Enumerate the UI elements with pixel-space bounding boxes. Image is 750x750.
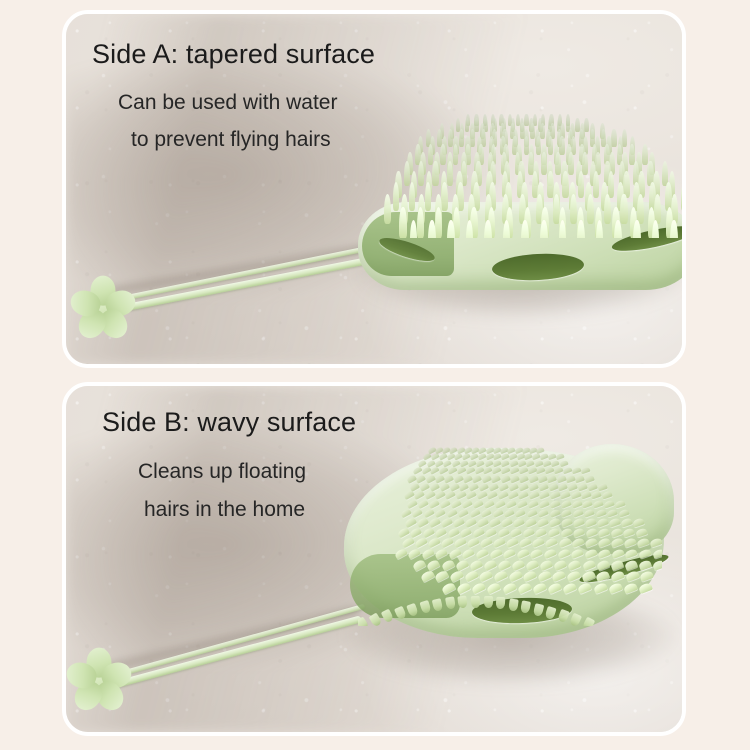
bristle <box>568 152 574 175</box>
wave-scale <box>638 559 652 570</box>
wave-scale <box>547 527 560 538</box>
wave-scale <box>595 570 610 582</box>
wave-scale <box>427 537 441 549</box>
panel-b-subtitle-line2: hairs in the home <box>144 498 305 522</box>
wave-scale <box>478 482 489 491</box>
wave-scale <box>580 467 590 475</box>
bristle <box>441 182 448 211</box>
wave-scale <box>509 467 519 475</box>
wave-scale <box>414 537 428 549</box>
wave-scale <box>422 527 435 538</box>
wave-scale <box>535 527 548 538</box>
wave-scale <box>539 559 553 571</box>
wave-scale <box>549 490 560 499</box>
wave-scale <box>571 467 581 475</box>
wave-scale <box>558 537 571 548</box>
wave-scale <box>549 508 561 518</box>
wave-scale <box>498 482 509 491</box>
wave-scale <box>578 482 589 491</box>
wave-scale <box>518 490 529 499</box>
wave-scale <box>450 499 462 509</box>
wave-scale <box>429 482 440 491</box>
wave-scale <box>547 474 557 482</box>
wave-scale <box>426 558 440 570</box>
wave-scale <box>505 537 518 548</box>
wave-scale <box>505 499 517 509</box>
wave-scale <box>459 527 472 538</box>
panel-b-subtitle-line1: Cleans up floating <box>138 460 306 484</box>
edge-tooth <box>406 603 419 617</box>
wave-scale <box>610 570 625 582</box>
wave-scale <box>447 466 457 475</box>
wave-scale <box>597 482 608 490</box>
wave-scale <box>527 499 539 509</box>
wave-scale <box>497 490 508 499</box>
wave-scale <box>522 527 535 538</box>
edge-tooth <box>508 598 518 611</box>
bristle <box>459 129 464 147</box>
wave-scale <box>475 548 489 560</box>
wave-scale <box>453 537 466 549</box>
bristle <box>432 161 438 186</box>
wave-scale <box>597 537 610 548</box>
wave-scale <box>561 508 573 518</box>
wave-scale <box>415 474 425 483</box>
wave-scale <box>400 507 412 518</box>
wave-scale <box>417 498 429 508</box>
wave-scale <box>575 474 585 482</box>
wave-scale <box>420 570 435 583</box>
wave-scale <box>632 517 644 527</box>
wave-scale <box>558 482 569 491</box>
wave-scale <box>531 537 544 548</box>
wave-scale <box>469 508 481 518</box>
wave-scale <box>528 482 539 491</box>
wave-scale <box>466 537 479 548</box>
edge-tooth <box>520 600 531 613</box>
bristle <box>404 161 410 186</box>
wave-scale <box>519 474 529 483</box>
wave-scale <box>618 508 630 517</box>
wave-scale <box>412 466 422 475</box>
wave-scale <box>445 490 456 500</box>
wave-scale <box>413 490 424 500</box>
wave-scale <box>522 570 537 582</box>
wave-scale <box>593 499 605 508</box>
wave-scale <box>471 582 486 595</box>
wave-scale <box>434 527 447 538</box>
wave-scale <box>608 582 623 594</box>
wave-scale <box>591 490 602 499</box>
wave-scale <box>570 548 584 559</box>
wave-scale <box>493 570 508 582</box>
bristle <box>448 129 453 147</box>
bristle <box>559 136 564 155</box>
wave-scale <box>440 558 454 570</box>
wave-scale <box>529 548 543 559</box>
wave-scale <box>444 474 454 483</box>
bristle <box>562 171 568 198</box>
wave-scale <box>525 559 539 571</box>
wave-scale <box>394 547 408 559</box>
wave-scale <box>635 527 648 537</box>
bristle <box>447 161 453 186</box>
wave-scale <box>425 474 435 483</box>
wave-scale <box>428 517 441 528</box>
edge-tooth <box>545 606 557 620</box>
wave-scale <box>638 582 653 594</box>
wave-scale <box>610 537 623 548</box>
bristle <box>622 129 627 147</box>
wave-scale <box>568 482 579 491</box>
panel-a-title: Side A: tapered surface <box>92 39 375 70</box>
wave-scale <box>476 490 487 500</box>
wave-scale <box>472 527 485 538</box>
wave-scale <box>494 499 506 509</box>
wave-scale <box>559 490 570 499</box>
product-infographic: Side A: tapered surface Can be used with… <box>0 0 750 750</box>
wave-scale <box>582 499 594 508</box>
wave-scale <box>421 547 435 559</box>
wave-scale <box>585 527 598 537</box>
wave-scale <box>584 474 594 482</box>
wave-scale <box>478 570 493 582</box>
wave-scale <box>539 490 550 499</box>
wave-scale <box>518 482 529 491</box>
wave-scale <box>461 499 473 509</box>
wave-scale <box>508 482 519 491</box>
wave-scale <box>446 508 458 518</box>
wave-scale <box>623 582 638 594</box>
wave-scale <box>596 517 608 527</box>
wave-scale <box>455 490 466 500</box>
wave-scale <box>604 499 616 508</box>
wave-scale <box>464 517 477 528</box>
bristle <box>620 194 627 224</box>
wave-scale <box>532 582 547 595</box>
wave-scale <box>610 527 623 537</box>
wave-scale <box>572 527 585 537</box>
bristle <box>548 136 553 155</box>
wave-scale <box>649 537 662 547</box>
wave-scale <box>439 482 450 491</box>
wave-scale <box>469 482 480 491</box>
wave-scale <box>465 467 475 475</box>
wave-scale <box>490 474 500 483</box>
wave-scale <box>577 582 592 594</box>
bristle <box>399 207 406 238</box>
wave-scale <box>545 537 558 548</box>
bristle <box>530 123 535 139</box>
wave-scale <box>515 508 527 518</box>
wave-scale <box>488 517 501 528</box>
wave-scale <box>440 537 453 549</box>
panel-a-subtitle-line1: Can be used with water <box>118 91 337 115</box>
wave-scale <box>560 527 573 538</box>
wave-scale <box>456 581 471 594</box>
wave-scale <box>509 527 522 538</box>
wave-scale <box>596 559 610 571</box>
wave-scale <box>459 482 470 491</box>
bristle <box>596 220 604 238</box>
wave-scale <box>584 537 597 548</box>
bristle <box>683 207 686 238</box>
flower-tag-a <box>76 282 130 336</box>
bristle <box>593 171 599 198</box>
wave-scale <box>551 570 566 582</box>
wave-scale <box>507 490 518 499</box>
wave-scale <box>502 548 516 560</box>
wave-scale <box>464 570 479 583</box>
wave-scale <box>625 570 640 582</box>
wave-scale <box>556 474 566 482</box>
wave-scale <box>489 548 503 560</box>
wave-scale <box>492 537 505 548</box>
wave-scale <box>497 527 510 538</box>
wave-scale <box>638 548 652 559</box>
edge-tooth <box>358 617 370 626</box>
edge-tooth <box>582 617 596 626</box>
wave-scale <box>428 499 440 509</box>
wave-scale <box>416 517 429 528</box>
wave-scale <box>456 467 466 476</box>
wave-scale <box>624 559 638 570</box>
wave-scale <box>597 527 610 537</box>
wave-scale <box>407 547 421 559</box>
wave-scale <box>559 460 568 468</box>
bristle <box>582 152 588 175</box>
bristle <box>555 152 561 175</box>
wave-scale <box>483 499 495 509</box>
edge-tooth <box>557 609 570 623</box>
wave-scale <box>455 558 469 570</box>
bristle <box>608 171 614 198</box>
bristle <box>681 182 686 211</box>
wave-scale <box>397 527 410 538</box>
wave-scale <box>562 467 572 475</box>
wave-scale <box>476 517 489 528</box>
wave-scale <box>582 559 596 571</box>
wave-scale <box>584 508 596 518</box>
wave-scale <box>503 508 515 518</box>
edge-tooth <box>569 613 582 626</box>
wave-scale <box>593 582 608 594</box>
panel-side-a: Side A: tapered surface Can be used with… <box>62 10 686 368</box>
wave-scale <box>500 474 510 483</box>
bristle <box>440 144 446 165</box>
wave-scale <box>406 498 418 508</box>
wave-scale <box>571 537 584 548</box>
wave-scale <box>538 499 550 509</box>
wave-scale <box>581 570 596 582</box>
wave-scale <box>406 474 416 483</box>
wave-scale <box>538 508 550 518</box>
bristle <box>570 194 577 224</box>
wave-scale <box>555 453 564 460</box>
edge-tooth <box>368 613 382 626</box>
wave-scale <box>434 570 449 583</box>
wave-scale <box>553 559 567 571</box>
wave-scale <box>492 508 504 518</box>
wave-scale <box>606 508 618 518</box>
wave-scale <box>526 508 538 518</box>
wave-scale <box>516 499 528 509</box>
wave-scale <box>608 517 620 527</box>
panel-side-b: Side B: wavy surface Cleans up floating … <box>62 382 686 736</box>
wave-scale <box>639 570 654 582</box>
edge-tooth <box>532 603 544 617</box>
wave-scale <box>571 499 583 508</box>
wave-scale <box>434 508 446 518</box>
edge-tooth <box>432 598 444 612</box>
bristle <box>474 118 478 132</box>
bristle <box>447 220 455 238</box>
wave-scale <box>543 548 557 559</box>
wave-scale <box>465 490 476 500</box>
wave-scale <box>488 482 499 491</box>
wave-scale <box>528 490 539 499</box>
wave-scale <box>636 537 649 548</box>
wave-scale <box>623 537 636 548</box>
wave-scale <box>518 537 531 548</box>
wave-scale <box>572 508 584 518</box>
wave-scale <box>423 508 435 519</box>
wave-scale <box>484 527 497 538</box>
wave-scale <box>580 490 591 499</box>
wave-scale <box>401 537 415 549</box>
wave-scale <box>452 517 465 528</box>
wave-scale <box>517 582 532 595</box>
wave-scale <box>560 499 572 508</box>
wave-scale <box>500 517 513 528</box>
wave-scale <box>620 517 632 527</box>
wave-scale <box>461 547 475 559</box>
bristle <box>540 123 545 139</box>
wave-scale <box>486 490 497 499</box>
wave-scale <box>652 559 662 570</box>
wave-scale <box>557 548 571 559</box>
wave-scale <box>562 582 577 594</box>
wave-scale <box>453 474 463 483</box>
bristle-field-side-a <box>366 110 686 238</box>
edge-tooth <box>381 609 394 624</box>
bristle <box>384 194 391 224</box>
wavy-texture-field-side-b <box>362 442 662 600</box>
wave-scale <box>567 559 581 571</box>
wave-scale <box>457 508 469 518</box>
wave-scale <box>528 474 538 482</box>
wave-scale <box>601 490 612 499</box>
wave-scale <box>536 517 549 527</box>
panel-b-title: Side B: wavy surface <box>102 407 356 438</box>
wave-scale <box>622 527 635 537</box>
wave-scale <box>409 527 422 538</box>
wave-scale <box>440 517 453 528</box>
wave-scale <box>537 570 552 582</box>
bristle <box>584 118 588 132</box>
wave-scale <box>549 499 561 509</box>
wave-scale <box>480 508 492 518</box>
wave-scale <box>497 559 511 571</box>
bristle <box>604 194 611 224</box>
wave-scale <box>439 499 451 509</box>
bristle <box>578 171 584 198</box>
wave-scale <box>447 527 460 538</box>
wave-scale <box>611 548 625 559</box>
wave-scale <box>597 548 611 559</box>
wave-scale <box>547 582 562 595</box>
wave-scale <box>434 547 448 559</box>
wave-scale <box>469 558 483 570</box>
wave-scale <box>479 537 492 548</box>
wave-scale <box>538 482 549 491</box>
wave-scale <box>481 474 491 483</box>
wave-scale <box>551 460 560 468</box>
wave-scale <box>512 517 525 527</box>
bristle <box>637 194 644 224</box>
wave-scale <box>441 581 456 594</box>
wave-scale <box>483 558 497 570</box>
wave-scale <box>595 508 607 518</box>
wave-scale <box>516 548 530 560</box>
wave-scale <box>518 467 528 475</box>
wave-scale <box>610 559 624 570</box>
wave-scale <box>472 499 484 509</box>
wave-scale <box>403 490 414 500</box>
wave-scale <box>449 570 464 583</box>
bristle <box>611 129 616 147</box>
edge-tooth <box>394 606 407 621</box>
wave-scale <box>404 517 417 528</box>
wave-scale <box>472 474 482 483</box>
wave-scale <box>560 517 572 527</box>
bristle <box>587 194 594 224</box>
wave-scale <box>524 517 537 527</box>
wave-scale <box>652 548 662 559</box>
wave-scale <box>412 558 426 570</box>
panel-a-subtitle-line2: to prevent flying hairs <box>131 128 331 152</box>
wave-scale <box>625 548 639 559</box>
flower-tag-b <box>72 654 126 708</box>
wave-scale <box>419 482 430 491</box>
wave-scale <box>548 517 561 527</box>
bristle <box>575 118 579 132</box>
edge-tooth <box>419 600 431 614</box>
wave-scale <box>508 570 523 582</box>
wave-scale <box>434 490 445 500</box>
wave-scale <box>448 547 462 559</box>
wave-scale <box>572 517 584 527</box>
wave-scale <box>511 559 525 571</box>
wave-scale <box>411 507 423 518</box>
wave-scale <box>587 482 598 491</box>
wave-scale <box>584 548 598 559</box>
wave-scale <box>486 582 501 595</box>
wave-scale <box>566 570 581 582</box>
wave-scale <box>424 490 435 500</box>
bristle <box>642 144 648 165</box>
wave-scale <box>570 490 581 499</box>
wave-scale <box>502 582 517 595</box>
wave-scale <box>584 517 596 527</box>
bristle <box>524 114 528 126</box>
wave-scale <box>409 482 420 492</box>
wave-scale <box>615 499 627 508</box>
